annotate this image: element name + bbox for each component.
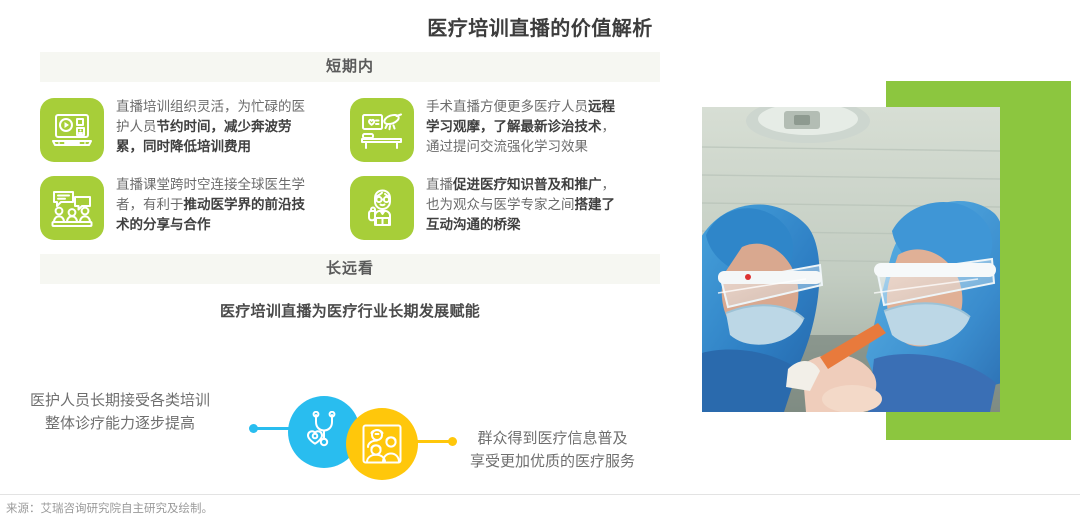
discussion-people-icon [40, 176, 104, 240]
page-title: 医疗培训直播的价值解析 [0, 12, 1080, 41]
operating-room-icon [350, 98, 414, 162]
value-card: 直播促进医疗知识普及和推广，也为观众与医学专家之间搭建了互动沟通的桥梁 [350, 174, 660, 252]
source-note: 来源：艾瑞咨询研究院自主研究及绘制。 [6, 500, 213, 516]
flow-left-text: 医护人员长期接受各类培训 整体诊疗能力逐步提高 [30, 390, 210, 435]
flow-dot-blue [249, 424, 258, 433]
value-card: 直播课堂跨时空连接全球医生学者，有利于推动医学界的前沿技术的分享与合作 [40, 174, 350, 252]
flow-right-text: 群众得到医疗信息普及 享受更加优质的医疗服务 [470, 428, 635, 473]
section-header-short-term: 短期内 [40, 52, 660, 82]
long-term-subtitle: 医疗培训直播为医疗行业长期发展赋能 [40, 300, 660, 321]
value-card-text: 直播课堂跨时空连接全球医生学者，有利于推动医学界的前沿技术的分享与合作 [116, 174, 308, 235]
value-card-text: 直播培训组织灵活，为忙碌的医护人员节约时间，减少奔波劳累，同时降低培训费用 [116, 96, 308, 157]
short-term-card-grid: 直播培训组织灵活，为忙碌的医护人员节约时间，减少奔波劳累，同时降低培训费用 [40, 96, 660, 252]
slide-root: 医疗培训直播的价值解析 短期内 [0, 0, 1080, 524]
value-card-text: 手术直播方便更多医疗人员远程学习观摩，了解最新诊治技术，通过提问交流强化学习效果 [426, 96, 618, 157]
value-card-text: 直播促进医疗知识普及和推广，也为观众与医学专家之间搭建了互动沟通的桥梁 [426, 174, 618, 235]
footer-divider [0, 494, 1080, 495]
section-header-long-term: 长远看 [40, 254, 660, 284]
value-card: 手术直播方便更多医疗人员远程学习观摩，了解最新诊治技术，通过提问交流强化学习效果 [350, 96, 660, 174]
family-people-icon [346, 408, 418, 480]
surgery-photo [702, 107, 1000, 412]
laptop-video-icon [40, 98, 104, 162]
flow-dot-yellow [448, 437, 457, 446]
value-card: 直播培训组织灵活，为忙碌的医护人员节约时间，减少奔波劳累，同时降低培训费用 [40, 96, 350, 174]
lecturer-book-icon [350, 176, 414, 240]
left-content-column: 短期内 [40, 52, 660, 321]
